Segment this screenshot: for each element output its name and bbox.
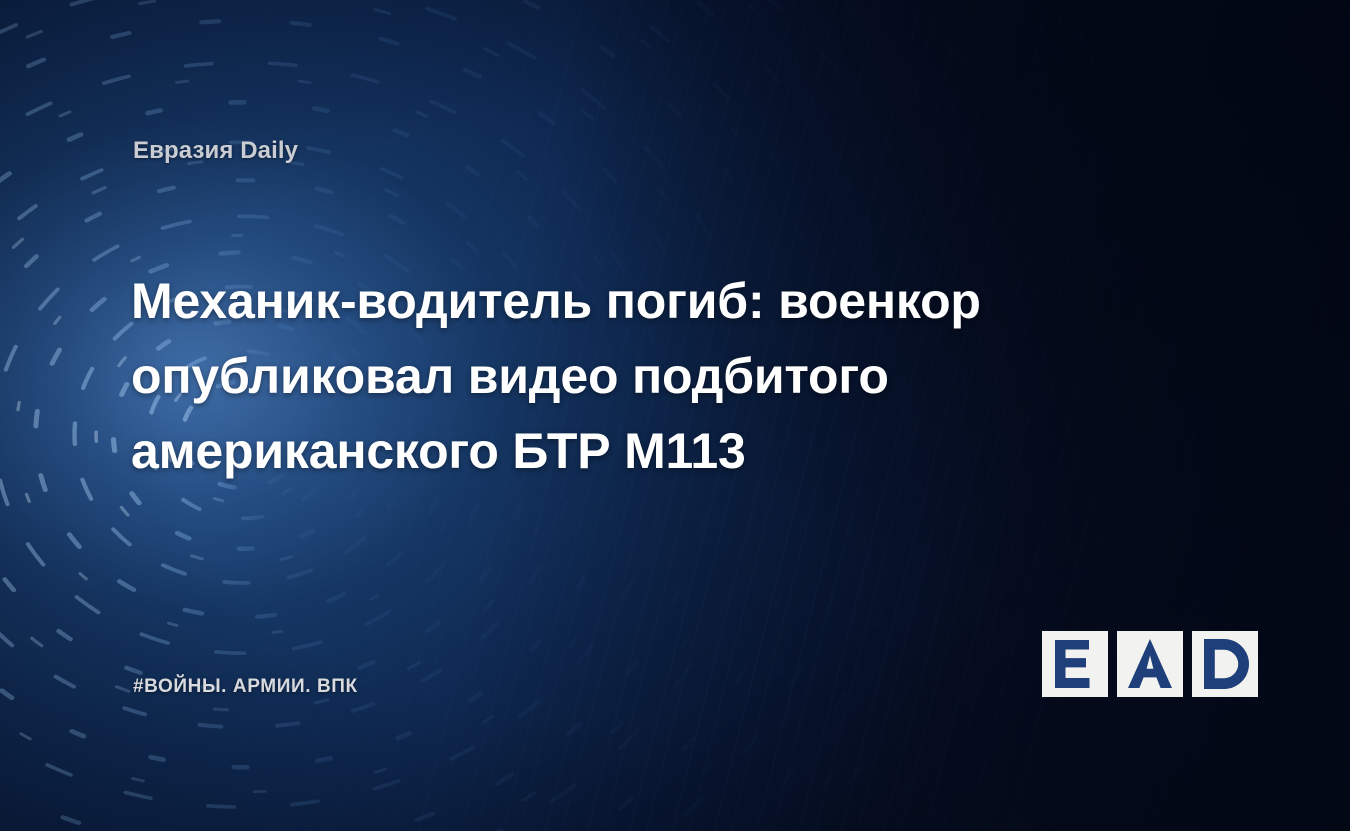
brand-name: Евразия Daily (133, 137, 298, 165)
rubric-tag[interactable]: #ВОЙНЫ. АРМИИ. ВПК (133, 676, 358, 698)
letter-d-icon (1192, 631, 1258, 697)
page-title: Механик-водитель погиб: военкор опублико… (131, 264, 1131, 489)
card-content: Евразия Daily Механик-водитель погиб: во… (0, 0, 1350, 831)
eadaily-logo[interactable] (1042, 631, 1258, 697)
news-share-card: Евразия Daily Механик-водитель погиб: во… (0, 0, 1350, 831)
logo-tile-d (1192, 631, 1258, 697)
logo-tile-a (1117, 631, 1183, 697)
logo-tile-e (1042, 631, 1108, 697)
letter-a-icon (1117, 631, 1183, 697)
letter-e-icon (1042, 631, 1108, 697)
